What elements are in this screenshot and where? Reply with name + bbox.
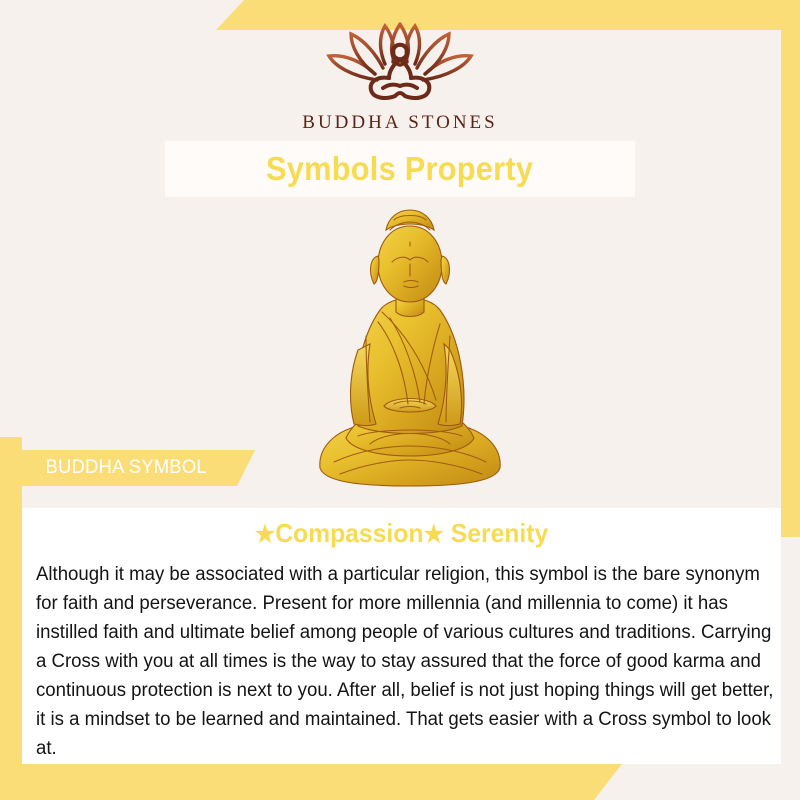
star-icon-1: ★ — [255, 521, 275, 548]
infographic-page: BUDDHA STONES Symbols Property — [0, 0, 800, 800]
brand-logo: BUDDHA STONES — [0, 18, 800, 134]
content-panel: ★Compassion★ Serenity Although it may be… — [22, 508, 781, 764]
virtues-heading: ★Compassion★ Serenity — [47, 518, 757, 549]
brand-name: BUDDHA STONES — [302, 112, 497, 134]
virtue-first: Compassion — [275, 518, 423, 548]
lotus-meditation-figure-icon — [315, 18, 485, 108]
seated-buddha-statue-icon — [300, 200, 520, 500]
title-banner: Symbols Property — [165, 141, 635, 197]
decorative-band-bottom — [0, 764, 622, 800]
description-paragraph: Although it may be associated with a par… — [36, 560, 778, 763]
star-icon-2: ★ — [423, 521, 443, 548]
category-tag: BUDDHA SYMBOL — [22, 450, 255, 486]
category-tag-label: BUDDHA SYMBOL — [45, 457, 206, 479]
decorative-band-left — [0, 437, 22, 800]
page-title: Symbols Property — [266, 150, 533, 188]
virtue-second: Serenity — [451, 518, 548, 548]
